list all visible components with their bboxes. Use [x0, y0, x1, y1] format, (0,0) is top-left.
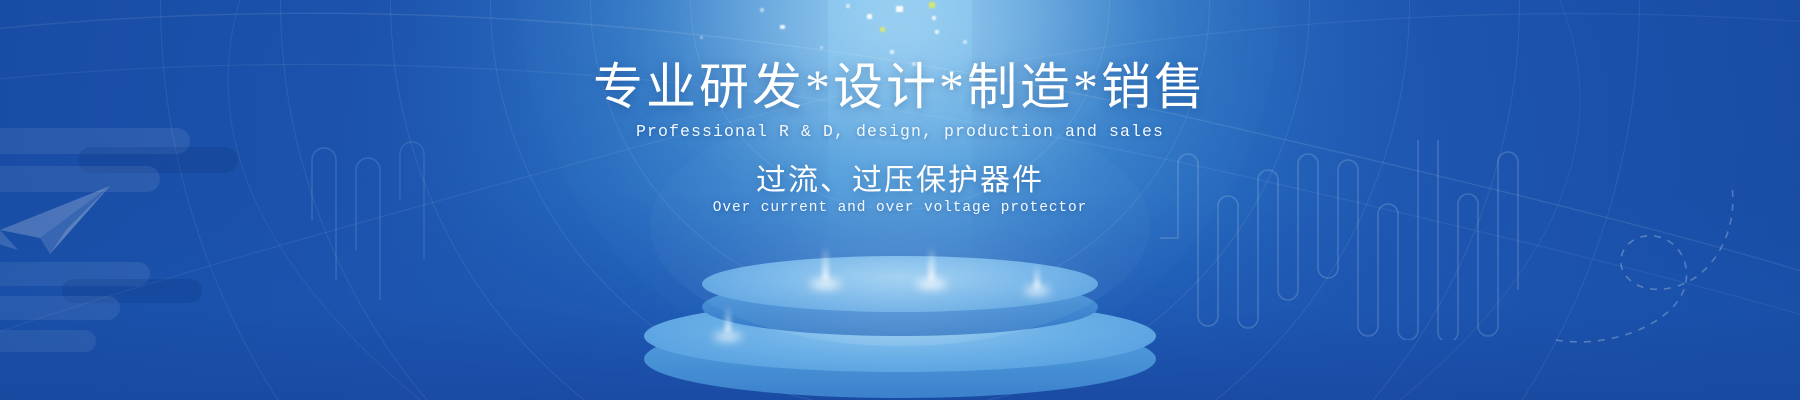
secondary-text-group: 过流、过压保护器件 Over current and over voltage … — [0, 163, 1800, 216]
subtitle-primary: Professional R & D, design, production a… — [0, 122, 1800, 141]
headline-primary: 专业研发*设计*制造*销售 — [0, 58, 1800, 116]
hero-banner: 专业研发*设计*制造*销售 Professional R & D, design… — [0, 0, 1800, 400]
headline-secondary: 过流、过压保护器件 — [0, 163, 1800, 199]
subtitle-secondary: Over current and over voltage protector — [0, 200, 1800, 216]
banner-text-block: 专业研发*设计*制造*销售 Professional R & D, design… — [0, 58, 1800, 216]
